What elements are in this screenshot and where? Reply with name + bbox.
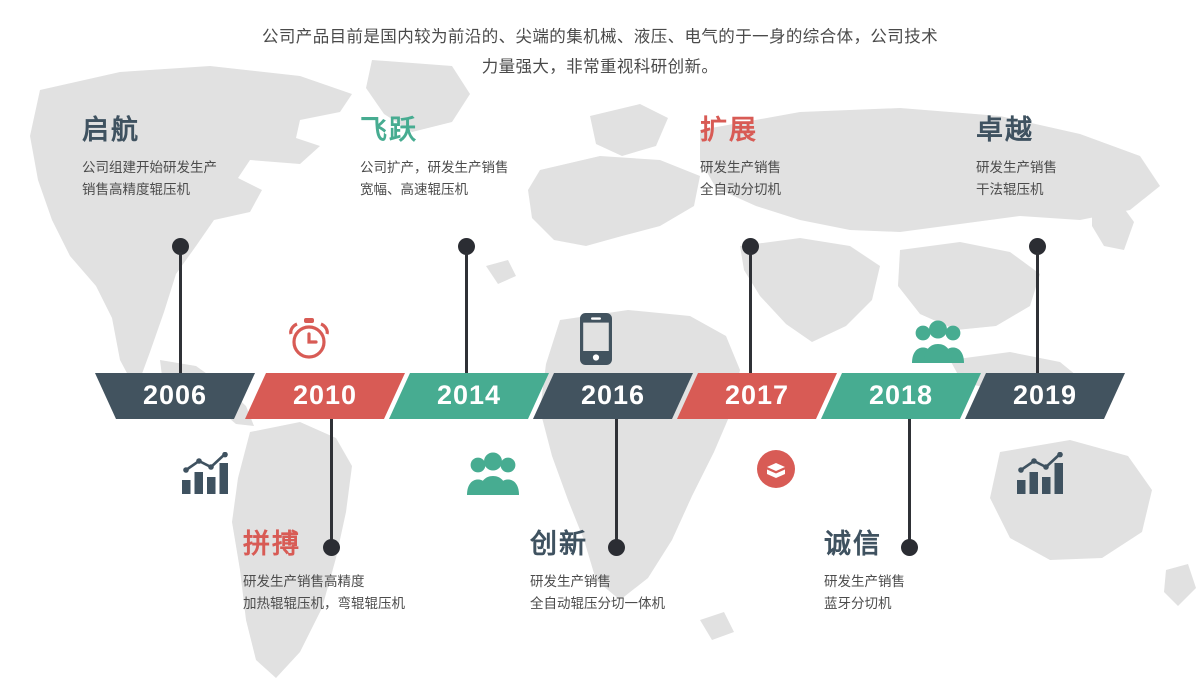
intro-paragraph: 公司产品目前是国内较为前沿的、尖端的集机械、液压、电气的于一身的综合体，公司技术… [0, 22, 1200, 82]
timeline-segment-2010[interactable]: 2010 [245, 373, 405, 419]
milestone-title: 启航 [82, 115, 217, 145]
milestone-label-pinbo: 拼搏 研发生产销售高精度 加热辊辊压机，弯辊辊压机 [243, 529, 405, 615]
timeline-year-label: 2017 [725, 380, 789, 411]
milestone-label-kuozhan: 扩展 研发生产销售 全自动分切机 [700, 115, 781, 201]
milestone-stem-2019 [1036, 252, 1039, 376]
timeline-year-label: 2019 [1013, 380, 1077, 411]
milestone-label-chuangxin: 创新 研发生产销售 全自动辊压分切一体机 [530, 529, 665, 615]
bar-chart-icon [1015, 452, 1067, 496]
milestone-title: 创新 [530, 529, 588, 559]
milestone-title: 飞跃 [360, 115, 509, 145]
people-group-icon [465, 452, 521, 496]
milestone-description: 研发生产销售 全自动分切机 [700, 157, 781, 201]
milestone-desc-line-2: 销售高精度辊压机 [82, 179, 217, 201]
milestone-title: 诚信 [824, 529, 882, 559]
milestone-description: 研发生产销售 蓝牙分切机 [824, 571, 905, 615]
milestone-desc-line-1: 研发生产销售 [824, 571, 905, 593]
alarm-clock-icon [285, 312, 333, 362]
open-box-badge-icon [757, 450, 795, 488]
milestone-desc-line-1: 研发生产销售高精度 [243, 571, 405, 593]
milestone-stem-2006 [179, 252, 182, 376]
intro-line-1: 公司产品目前是国内较为前沿的、尖端的集机械、液压、电气的于一身的综合体，公司技术 [0, 22, 1200, 52]
milestone-stem-2017 [749, 252, 752, 376]
milestone-title: 拼搏 [243, 529, 301, 559]
milestone-label-qihang: 启航 公司组建开始研发生产 销售高精度辊压机 [82, 115, 217, 201]
milestone-label-zhuoyue: 卓越 研发生产销售 干法辊压机 [976, 115, 1057, 201]
timeline-year-label: 2018 [869, 380, 933, 411]
milestone-desc-line-2: 宽幅、高速辊压机 [360, 179, 509, 201]
milestone-description: 研发生产销售 全自动辊压分切一体机 [530, 571, 665, 615]
milestone-description: 公司扩产，研发生产销售 宽幅、高速辊压机 [360, 157, 509, 201]
milestone-desc-line-2: 全自动辊压分切一体机 [530, 593, 665, 615]
milestone-description: 公司组建开始研发生产 销售高精度辊压机 [82, 157, 217, 201]
intro-line-2: 力量强大，非常重视科研创新。 [0, 52, 1200, 82]
milestone-desc-line-2: 加热辊辊压机，弯辊辊压机 [243, 593, 405, 615]
milestone-label-feiyue: 飞跃 公司扩产，研发生产销售 宽幅、高速辊压机 [360, 115, 509, 201]
milestone-stem-2010 [330, 418, 333, 546]
infographic-canvas: 公司产品目前是国内较为前沿的、尖端的集机械、液压、电气的于一身的综合体，公司技术… [0, 0, 1200, 697]
timeline-segment-2019[interactable]: 2019 [965, 373, 1125, 419]
milestone-desc-line-1: 研发生产销售 [700, 157, 781, 179]
timeline-year-label: 2014 [437, 380, 501, 411]
people-group-icon [910, 320, 966, 364]
timeline-ribbon: 2006 2010 2014 2016 2017 2018 2019 [95, 373, 1110, 419]
bar-chart-icon [180, 452, 232, 496]
milestone-desc-line-1: 研发生产销售 [976, 157, 1057, 179]
timeline-year-label: 2010 [293, 380, 357, 411]
milestone-desc-line-1: 公司组建开始研发生产 [82, 157, 217, 179]
timeline-segment-2016[interactable]: 2016 [533, 373, 693, 419]
milestone-desc-line-2: 蓝牙分切机 [824, 593, 905, 615]
milestone-stem-2018 [908, 418, 911, 546]
timeline-segment-2006[interactable]: 2006 [95, 373, 255, 419]
timeline-year-label: 2006 [143, 380, 207, 411]
timeline-segment-2018[interactable]: 2018 [821, 373, 981, 419]
milestone-title: 扩展 [700, 115, 781, 145]
milestone-desc-line-1: 研发生产销售 [530, 571, 665, 593]
timeline-year-label: 2016 [581, 380, 645, 411]
milestone-stem-2016 [615, 418, 618, 546]
milestone-description: 研发生产销售 干法辊压机 [976, 157, 1057, 201]
milestone-desc-line-2: 全自动分切机 [700, 179, 781, 201]
smartphone-icon [580, 313, 612, 365]
milestone-desc-line-1: 公司扩产，研发生产销售 [360, 157, 509, 179]
milestone-stem-2014 [465, 252, 468, 376]
milestone-desc-line-2: 干法辊压机 [976, 179, 1057, 201]
milestone-title: 卓越 [976, 115, 1057, 145]
milestone-label-chengxin: 诚信 研发生产销售 蓝牙分切机 [824, 529, 905, 615]
timeline-segment-2014[interactable]: 2014 [389, 373, 549, 419]
timeline-segment-2017[interactable]: 2017 [677, 373, 837, 419]
milestone-description: 研发生产销售高精度 加热辊辊压机，弯辊辊压机 [243, 571, 405, 615]
